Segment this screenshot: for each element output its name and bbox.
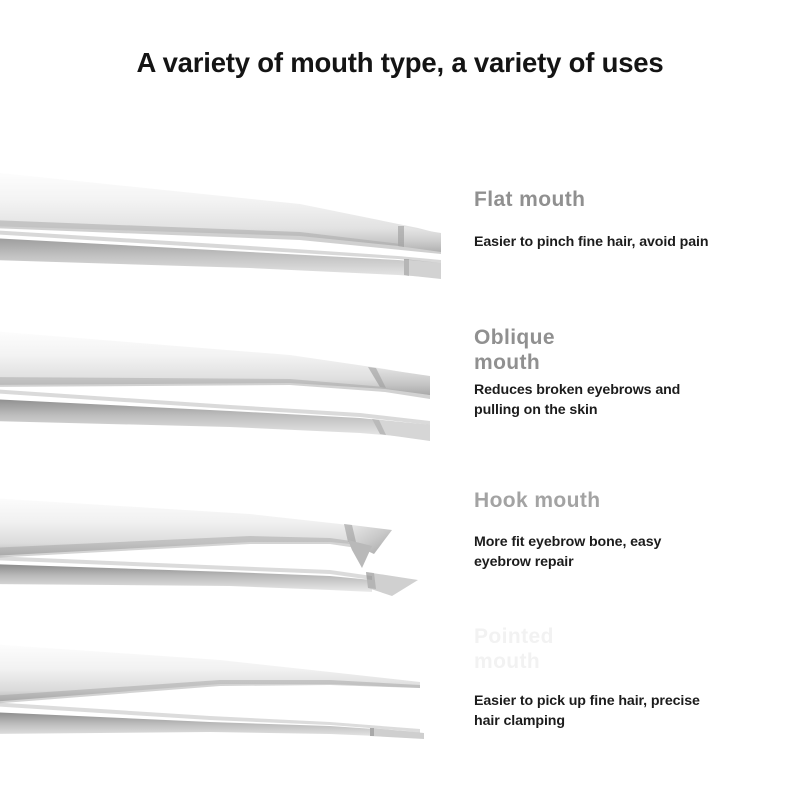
oblique-mouth-description-line2: pulling on the skin (474, 401, 800, 421)
flat-mouth-description: Easier to pinch fine hair, avoid pain (474, 233, 800, 253)
flat-mouth-text: Flat mouth Easier to pinch fine hair, av… (474, 187, 800, 253)
hook-mouth-text: Hook mouth More fit eyebrow bone, easy e… (474, 488, 800, 572)
section-hook-mouth: Hook mouth More fit eyebrow bone, easy e… (0, 480, 800, 605)
oblique-tip-tweezer-image (0, 315, 460, 445)
hook-mouth-description-line2: eyebrow repair (474, 553, 800, 573)
section-pointed-mouth: Pointed mouth Easier to pick up fine hai… (0, 630, 800, 755)
oblique-mouth-description-line1: Reduces broken eyebrows and (474, 381, 800, 401)
page-title: A variety of mouth type, a variety of us… (0, 47, 800, 79)
hook-tip-tweezer-image (0, 480, 460, 605)
pointed-mouth-description-line1: Easier to pick up fine hair, precise (474, 692, 800, 712)
section-flat-mouth: Flat mouth Easier to pinch fine hair, av… (0, 160, 800, 290)
hook-mouth-description-line1: More fit eyebrow bone, easy (474, 533, 800, 553)
flat-tip-tweezer-image (0, 160, 460, 290)
infographic-page: A variety of mouth type, a variety of us… (0, 0, 800, 800)
pointed-mouth-heading-line1: Pointed (474, 624, 800, 649)
oblique-mouth-heading-line1: Oblique (474, 325, 800, 350)
pointed-mouth-description-line2: hair clamping (474, 712, 800, 732)
section-oblique-mouth: Oblique mouth Reduces broken eyebrows an… (0, 315, 800, 445)
oblique-mouth-text: Oblique mouth Reduces broken eyebrows an… (474, 325, 800, 420)
oblique-mouth-heading-line2: mouth (474, 350, 800, 375)
pointed-mouth-text: Pointed mouth Easier to pick up fine hai… (474, 624, 800, 731)
flat-mouth-heading: Flat mouth (474, 187, 800, 212)
hook-mouth-heading: Hook mouth (474, 488, 800, 513)
pointed-mouth-heading-line2: mouth (474, 649, 800, 674)
pointed-tip-tweezer-image (0, 630, 500, 755)
